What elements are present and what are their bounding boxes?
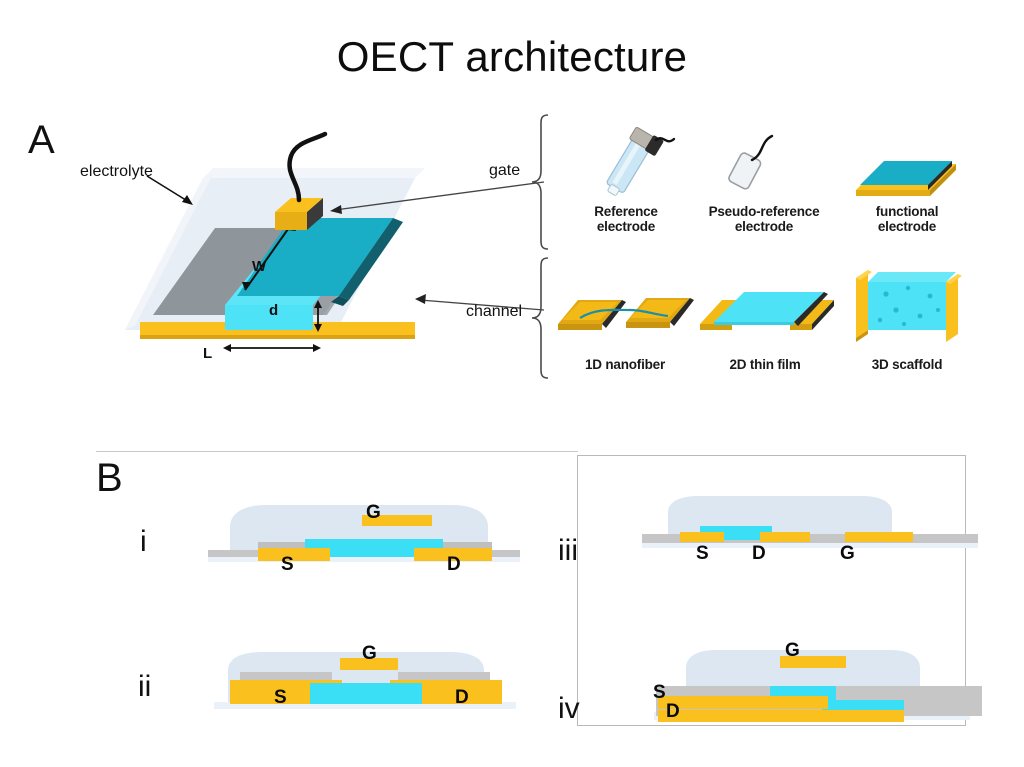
- functional-electrode-caption-line2: electrode: [848, 219, 966, 235]
- nanofiber-1d-caption: 1D nanofiber: [552, 357, 698, 373]
- functional-electrode-icon: [848, 148, 963, 208]
- config-i-source-label: S: [281, 555, 294, 574]
- config-iii-gate-label: G: [840, 544, 855, 563]
- oect-config-i-diagram: [200, 495, 530, 575]
- channel-bracket: [530, 256, 552, 380]
- gate-bracket: [530, 113, 552, 251]
- nanofiber-1d-icon: [556, 286, 696, 344]
- bracket-label-gate: gate: [489, 162, 520, 180]
- config-iv-source-label: S: [653, 683, 666, 702]
- scaffold-3d-caption: 3D scaffold: [840, 357, 974, 373]
- config-i-gate-label: G: [366, 503, 381, 522]
- electrolyte-label: electrolyte: [80, 163, 153, 181]
- panel-a-letter: A: [28, 120, 55, 160]
- functional-electrode-caption-line1: functional: [848, 204, 966, 220]
- config-numeral-iii: iii: [558, 536, 578, 566]
- oect-config-iii-diagram: [640, 492, 980, 562]
- bracket-leader-lines: [300, 160, 550, 390]
- thin-film-2d-icon: [698, 280, 838, 342]
- page-title: OECT architecture: [0, 33, 1024, 81]
- slide-canvas: OECT architecture A: [0, 0, 1024, 767]
- config-iv-drain-label: D: [666, 702, 680, 721]
- dimension-label-l: L: [203, 345, 212, 362]
- config-iv-gate-label: G: [785, 641, 800, 660]
- pseudo-reference-electrode-caption-line2: electrode: [694, 219, 834, 235]
- config-iii-drain-label: D: [752, 544, 766, 563]
- panel-b-divider: [96, 451, 578, 452]
- scaffold-3d-icon: [842, 264, 972, 344]
- thin-film-2d-caption: 2D thin film: [692, 357, 838, 373]
- oect-config-iv-diagram: [640, 640, 980, 730]
- bracket-label-channel: channel: [466, 303, 522, 321]
- pseudo-reference-electrode-caption-line1: Pseudo-reference: [694, 204, 834, 220]
- config-numeral-ii: ii: [138, 672, 151, 702]
- reference-electrode-caption-line1: Reference: [566, 204, 686, 220]
- config-numeral-iv: iv: [558, 694, 580, 724]
- reference-electrode-icon: [578, 126, 678, 206]
- config-numeral-i: i: [140, 527, 147, 557]
- dimension-label-w: W: [252, 258, 266, 275]
- pseudo-reference-electrode-icon: [712, 132, 802, 202]
- config-ii-source-label: S: [274, 688, 287, 707]
- config-iii-source-label: S: [696, 544, 709, 563]
- panel-b-letter: B: [96, 458, 123, 498]
- config-i-drain-label: D: [447, 555, 461, 574]
- config-ii-gate-label: G: [362, 644, 377, 663]
- reference-electrode-caption-line2: electrode: [566, 219, 686, 235]
- config-ii-drain-label: D: [455, 688, 469, 707]
- dimension-label-d: d: [269, 302, 278, 319]
